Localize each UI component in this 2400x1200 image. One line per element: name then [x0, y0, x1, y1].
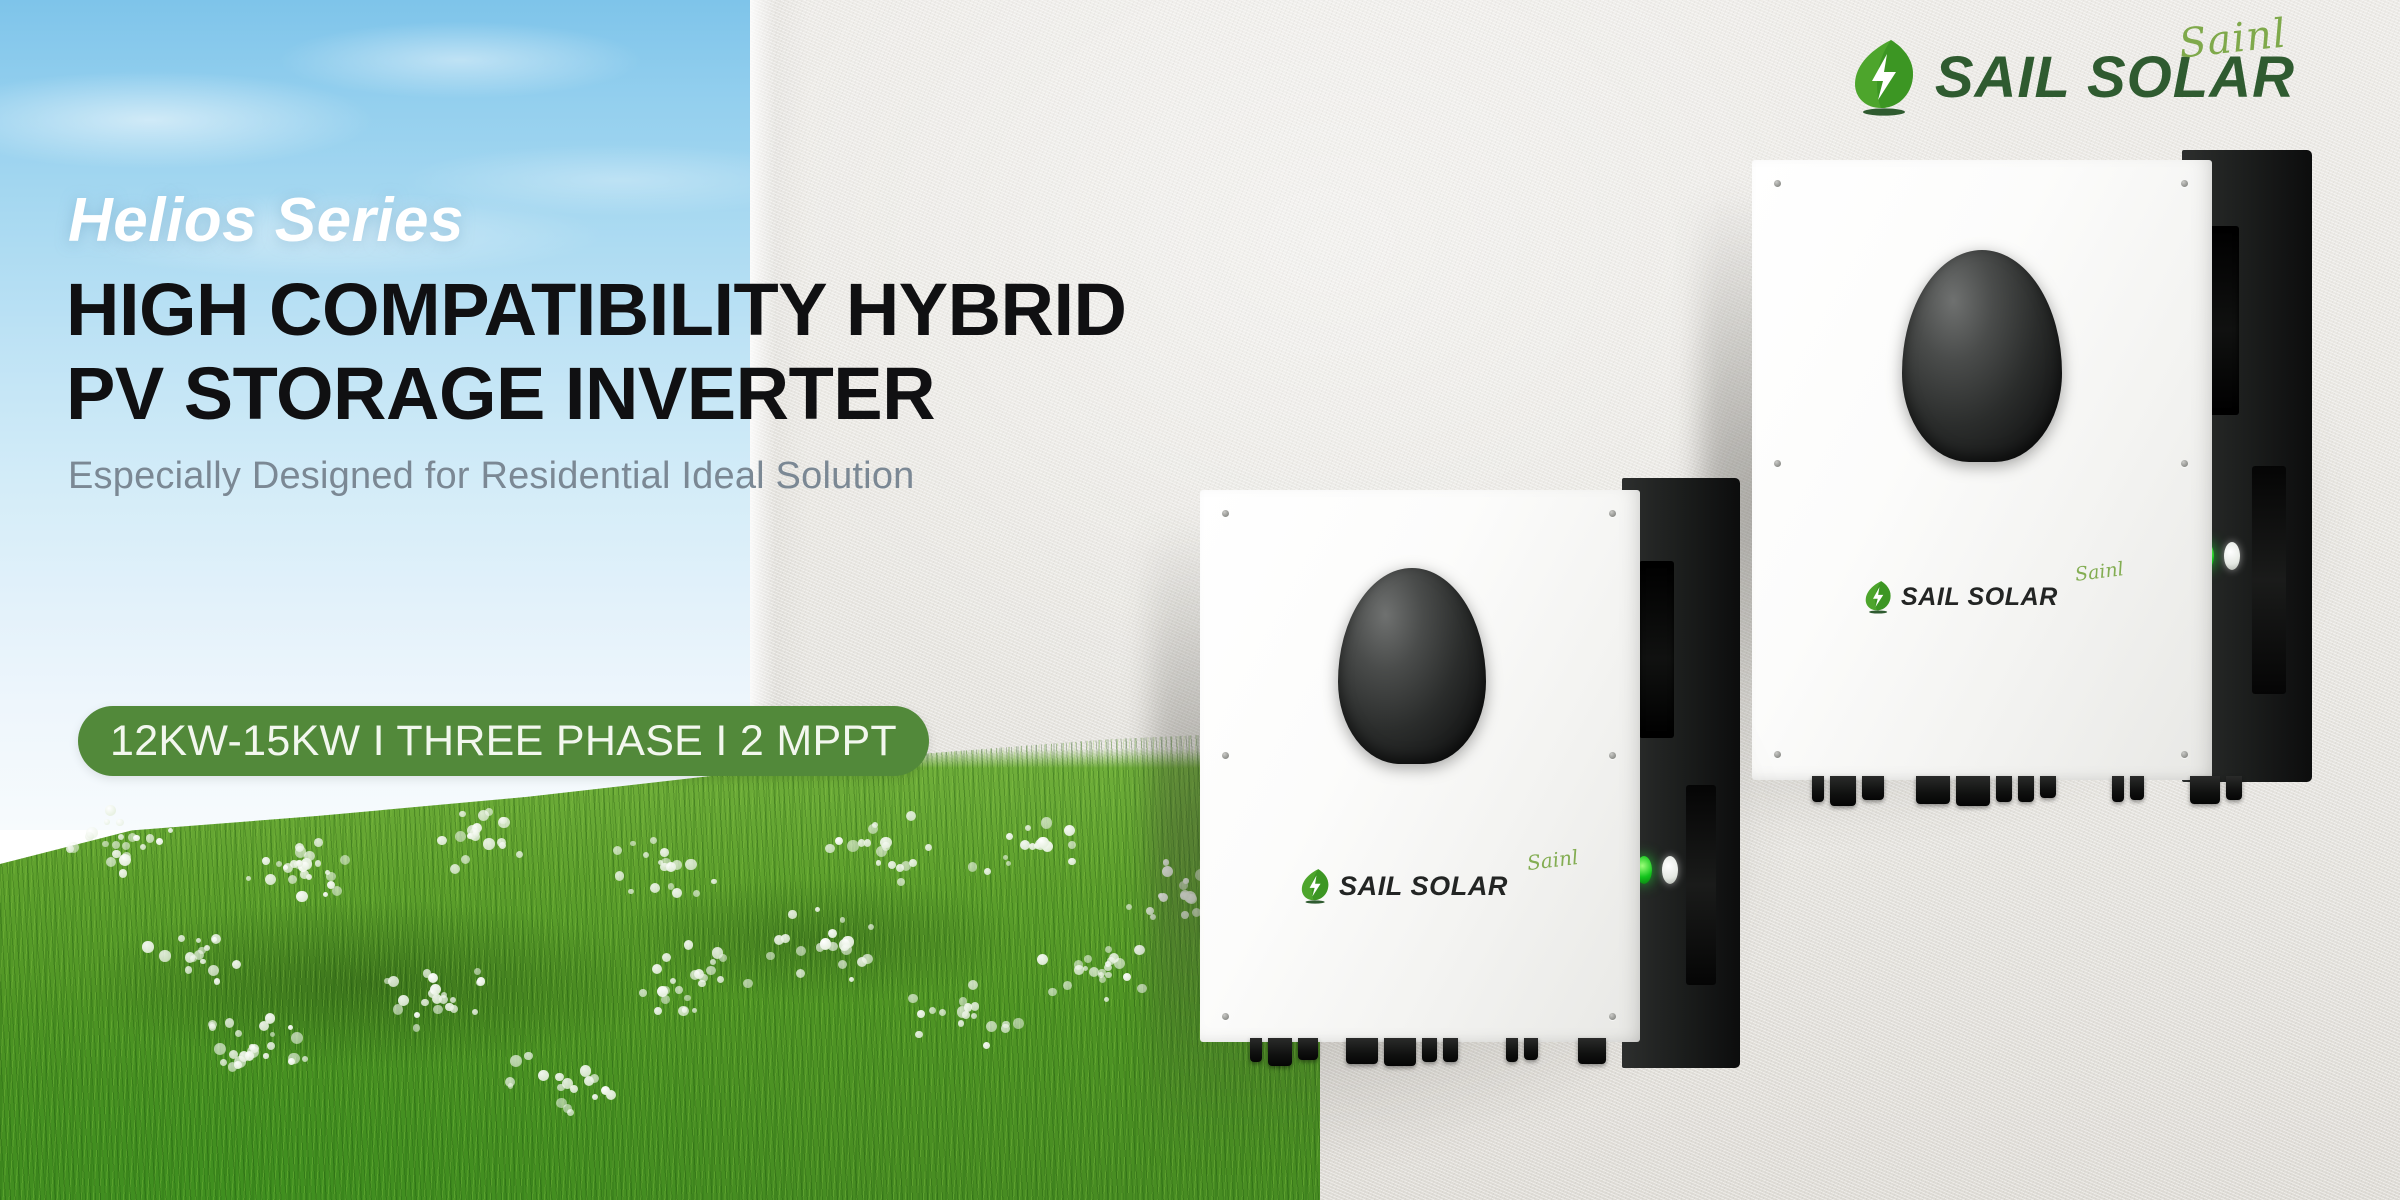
connector — [1916, 776, 1950, 804]
rear-inverter-dome-display — [1902, 250, 2062, 462]
rear-inverter-front-panel: SAIL SOLAR Sainl — [1752, 160, 2212, 780]
leaf-bolt-icon — [1851, 38, 1921, 116]
panel-screw — [1222, 1013, 1229, 1020]
connector — [1443, 1038, 1458, 1062]
inverter-rear: SAIL SOLAR Sainl — [1752, 160, 2312, 780]
connector — [2190, 776, 2220, 804]
connector — [1250, 1038, 1262, 1062]
connector — [1524, 1038, 1538, 1060]
connector — [2226, 776, 2242, 800]
product-banner: SAIL SOLAR Sainl — [0, 0, 2400, 1200]
product-brand-name: SAIL SOLAR — [1339, 871, 1508, 902]
led-white-indicator — [2224, 542, 2240, 570]
connector — [1830, 776, 1856, 806]
leaf-bolt-icon — [1864, 580, 1894, 614]
connector — [2130, 776, 2144, 800]
connector — [2112, 776, 2124, 802]
series-label: Helios Series — [68, 185, 464, 256]
spec-badge: 12KW-15KW I THREE PHASE I 2 MPPT — [78, 706, 929, 776]
headline-line-2: PV STORAGE INVERTER — [66, 352, 1127, 436]
product-script-signature: Sainl — [2074, 558, 2125, 586]
leaf-bolt-icon — [1300, 868, 1332, 904]
grass-field — [0, 720, 1320, 1200]
inverter-front: SAIL SOLAR Sainl — [1200, 490, 1740, 1050]
connector — [1506, 1038, 1518, 1062]
rear-inverter-product-logo: SAIL SOLAR Sainl — [1864, 580, 2058, 614]
connector — [1996, 776, 2012, 802]
panel-screw — [1774, 460, 1781, 467]
panel-screw — [1774, 751, 1781, 758]
headline-line-1: HIGH COMPATIBILITY HYBRID — [66, 268, 1127, 351]
brand-logo: SAIL SOLAR Sainl — [1851, 38, 2295, 116]
rear-vent-slot-2 — [2252, 466, 2286, 694]
panel-screw — [1222, 752, 1229, 759]
connector — [1578, 1038, 1606, 1064]
tagline: Especially Designed for Residential Idea… — [68, 455, 914, 498]
front-status-indicators — [1636, 856, 1678, 884]
front-vent-slot-2 — [1686, 785, 1717, 986]
rear-inverter-connectors — [1812, 776, 2242, 806]
connector — [2040, 776, 2056, 798]
connector — [2018, 776, 2034, 802]
connector — [1862, 776, 1884, 800]
front-inverter-front-panel: SAIL SOLAR Sainl — [1200, 490, 1640, 1042]
connector — [1346, 1038, 1378, 1064]
panel-screw — [2181, 751, 2188, 758]
front-inverter-connectors — [1250, 1038, 1606, 1066]
product-script-signature: Sainl — [1526, 845, 1580, 875]
front-vent-slot-1 — [1639, 561, 1674, 738]
connector — [1298, 1038, 1318, 1060]
connector — [1384, 1038, 1416, 1066]
front-inverter-dome-display — [1338, 568, 1486, 764]
panel-screw — [2181, 180, 2188, 187]
front-inverter-product-logo: SAIL SOLAR Sainl — [1300, 868, 1508, 904]
panel-screw — [1609, 510, 1616, 517]
led-white-indicator — [1662, 856, 1678, 884]
connector — [1812, 776, 1824, 802]
panel-screw — [1609, 752, 1616, 759]
panel-screw — [2181, 460, 2188, 467]
connector — [1268, 1038, 1292, 1066]
product-brand-name: SAIL SOLAR — [1901, 583, 2058, 612]
connector — [1422, 1038, 1437, 1062]
page-title: HIGH COMPATIBILITY HYBRID PV STORAGE INV… — [66, 268, 1127, 435]
panel-screw — [1609, 1013, 1616, 1020]
panel-screw — [1774, 180, 1781, 187]
panel-screw — [1222, 510, 1229, 517]
grass-blades-texture — [0, 720, 1320, 1200]
connector — [1956, 776, 1990, 806]
